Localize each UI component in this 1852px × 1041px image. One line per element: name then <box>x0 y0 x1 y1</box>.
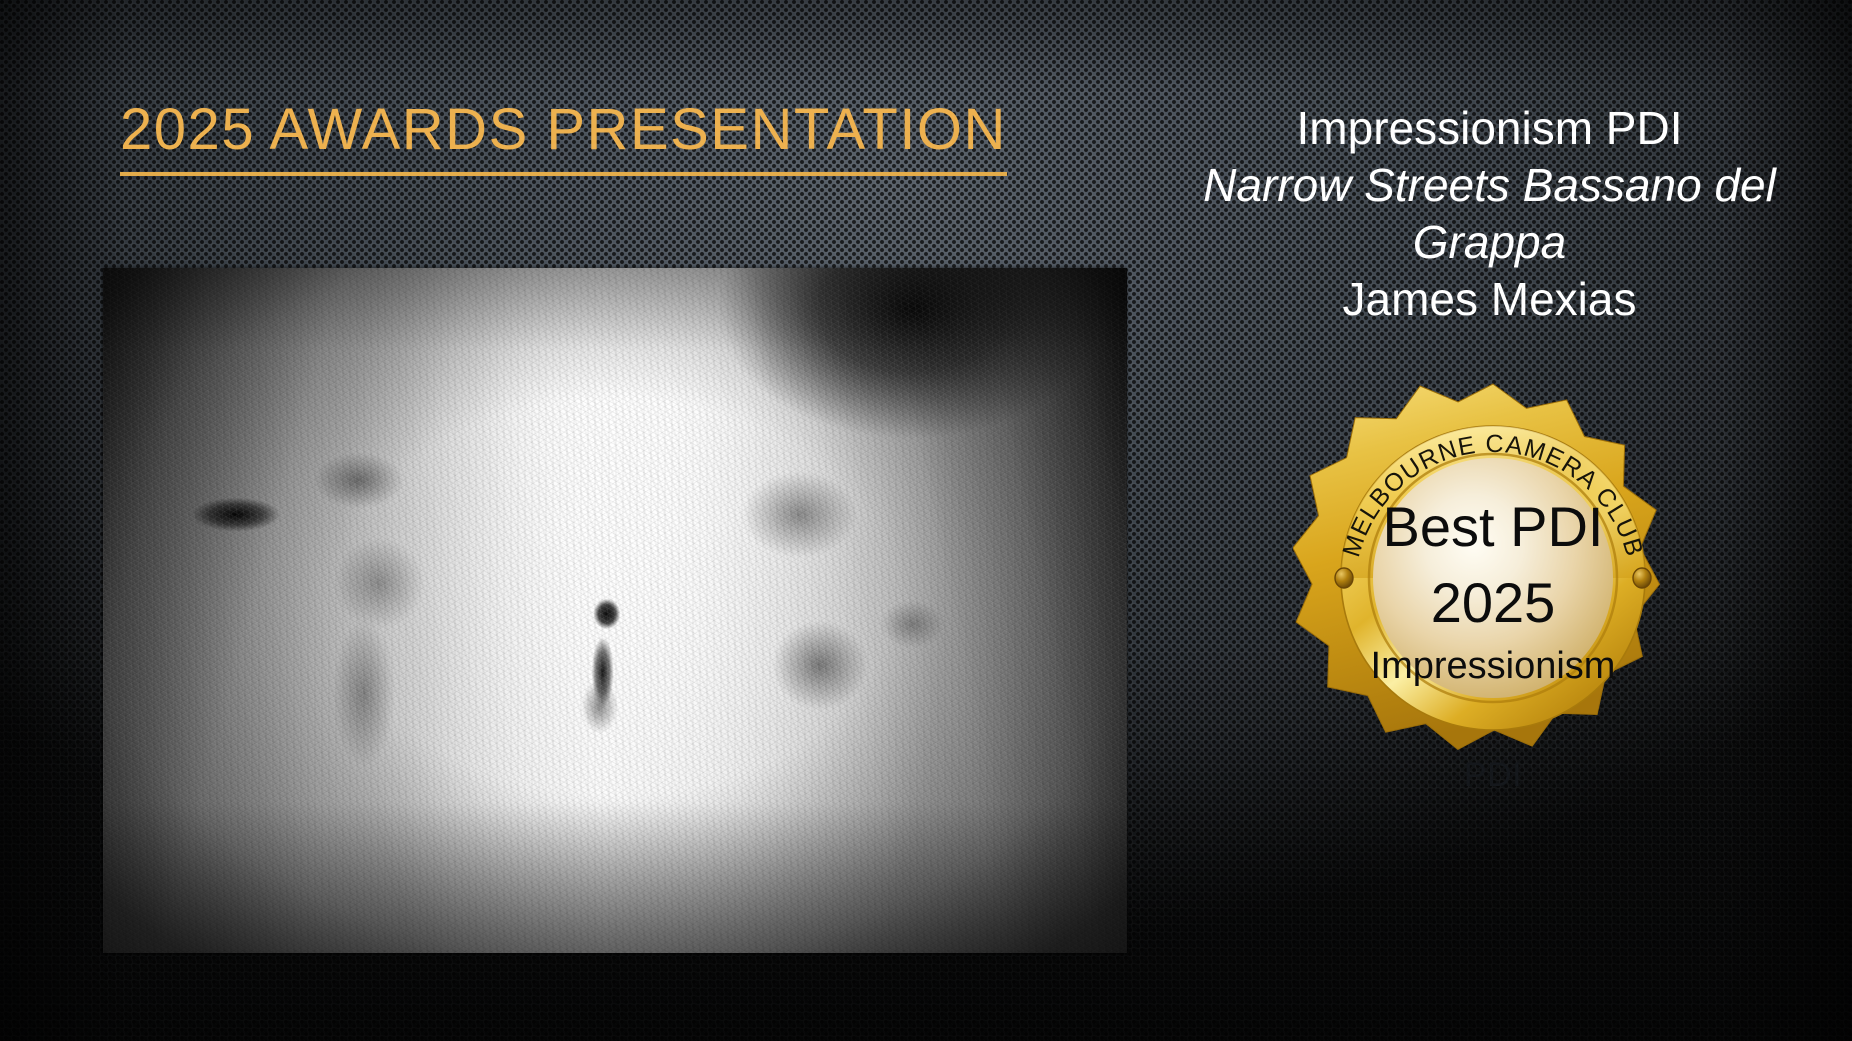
caption-category: Impressionism PDI <box>1127 100 1852 157</box>
award-badge: MELBOURNE CAMERA CLUB Best PDI 2025 Impr… <box>1293 378 1693 798</box>
photo-vignette <box>103 268 1127 953</box>
presentation-slide: 2025 AWARDS PRESENTATION Impressionism P… <box>0 0 1852 1041</box>
badge-subtitle: PDI <box>1293 756 1693 795</box>
award-caption: Impressionism PDI Narrow Streets Bassano… <box>1127 100 1852 328</box>
badge-rivet-left <box>1335 568 1353 588</box>
caption-work-title: Narrow Streets Bassano del Grappa <box>1127 157 1852 271</box>
award-badge-graphic: MELBOURNE CAMERA CLUB Best PDI 2025 Impr… <box>1293 378 1693 778</box>
badge-rivet-right <box>1633 568 1651 588</box>
badge-section-label: Impressionism <box>1371 645 1616 687</box>
badge-year-label: 2025 <box>1431 571 1556 634</box>
badge-award-label: Best PDI <box>1383 495 1604 558</box>
award-photo <box>103 268 1127 953</box>
page-title-text: 2025 AWARDS PRESENTATION <box>120 96 1007 176</box>
page-title: 2025 AWARDS PRESENTATION <box>0 96 1127 176</box>
caption-author: James Mexias <box>1127 271 1852 328</box>
